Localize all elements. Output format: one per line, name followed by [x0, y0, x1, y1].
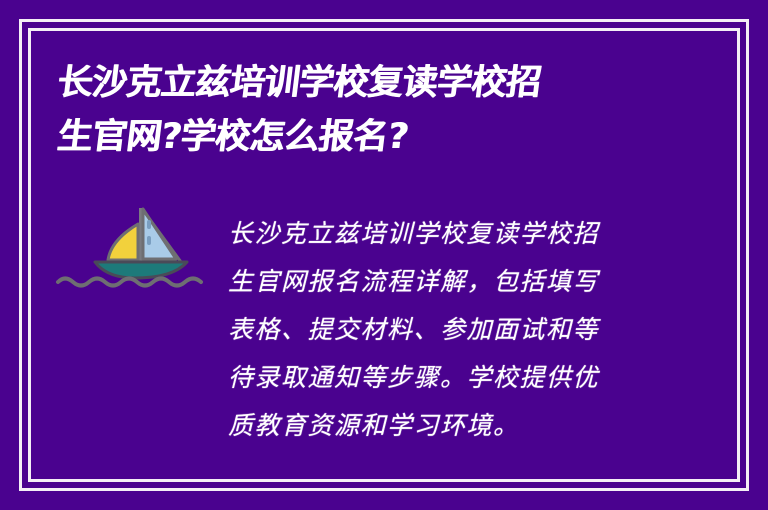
body-line-4: 待录取通知等步骤。学校提供优: [228, 354, 648, 402]
body-line-2: 生官网报名流程详解，包括填写: [228, 258, 648, 306]
body-line-3: 表格、提交材料、参加面试和等: [228, 306, 648, 354]
headline-line-2: 生官网?学校怎么报名?: [54, 110, 661, 164]
body-line-5: 质教育资源和学习环境。: [228, 402, 648, 450]
body-copy: 长沙克立兹培训学校复读学校招 生官网报名流程详解，包括填写 表格、提交材料、参加…: [228, 210, 648, 450]
sailboat-illustration: [55, 196, 205, 291]
headline: 长沙克立兹培训学校复读学校招 生官网?学校怎么报名?: [54, 56, 654, 164]
poster-canvas: 长沙克立兹培训学校复读学校招 生官网?学校怎么报名? 长沙克立兹培训学校复读学校…: [0, 0, 768, 510]
body-line-1: 长沙克立兹培训学校复读学校招: [228, 210, 648, 258]
headline-line-1: 长沙克立兹培训学校复读学校招: [54, 56, 661, 110]
